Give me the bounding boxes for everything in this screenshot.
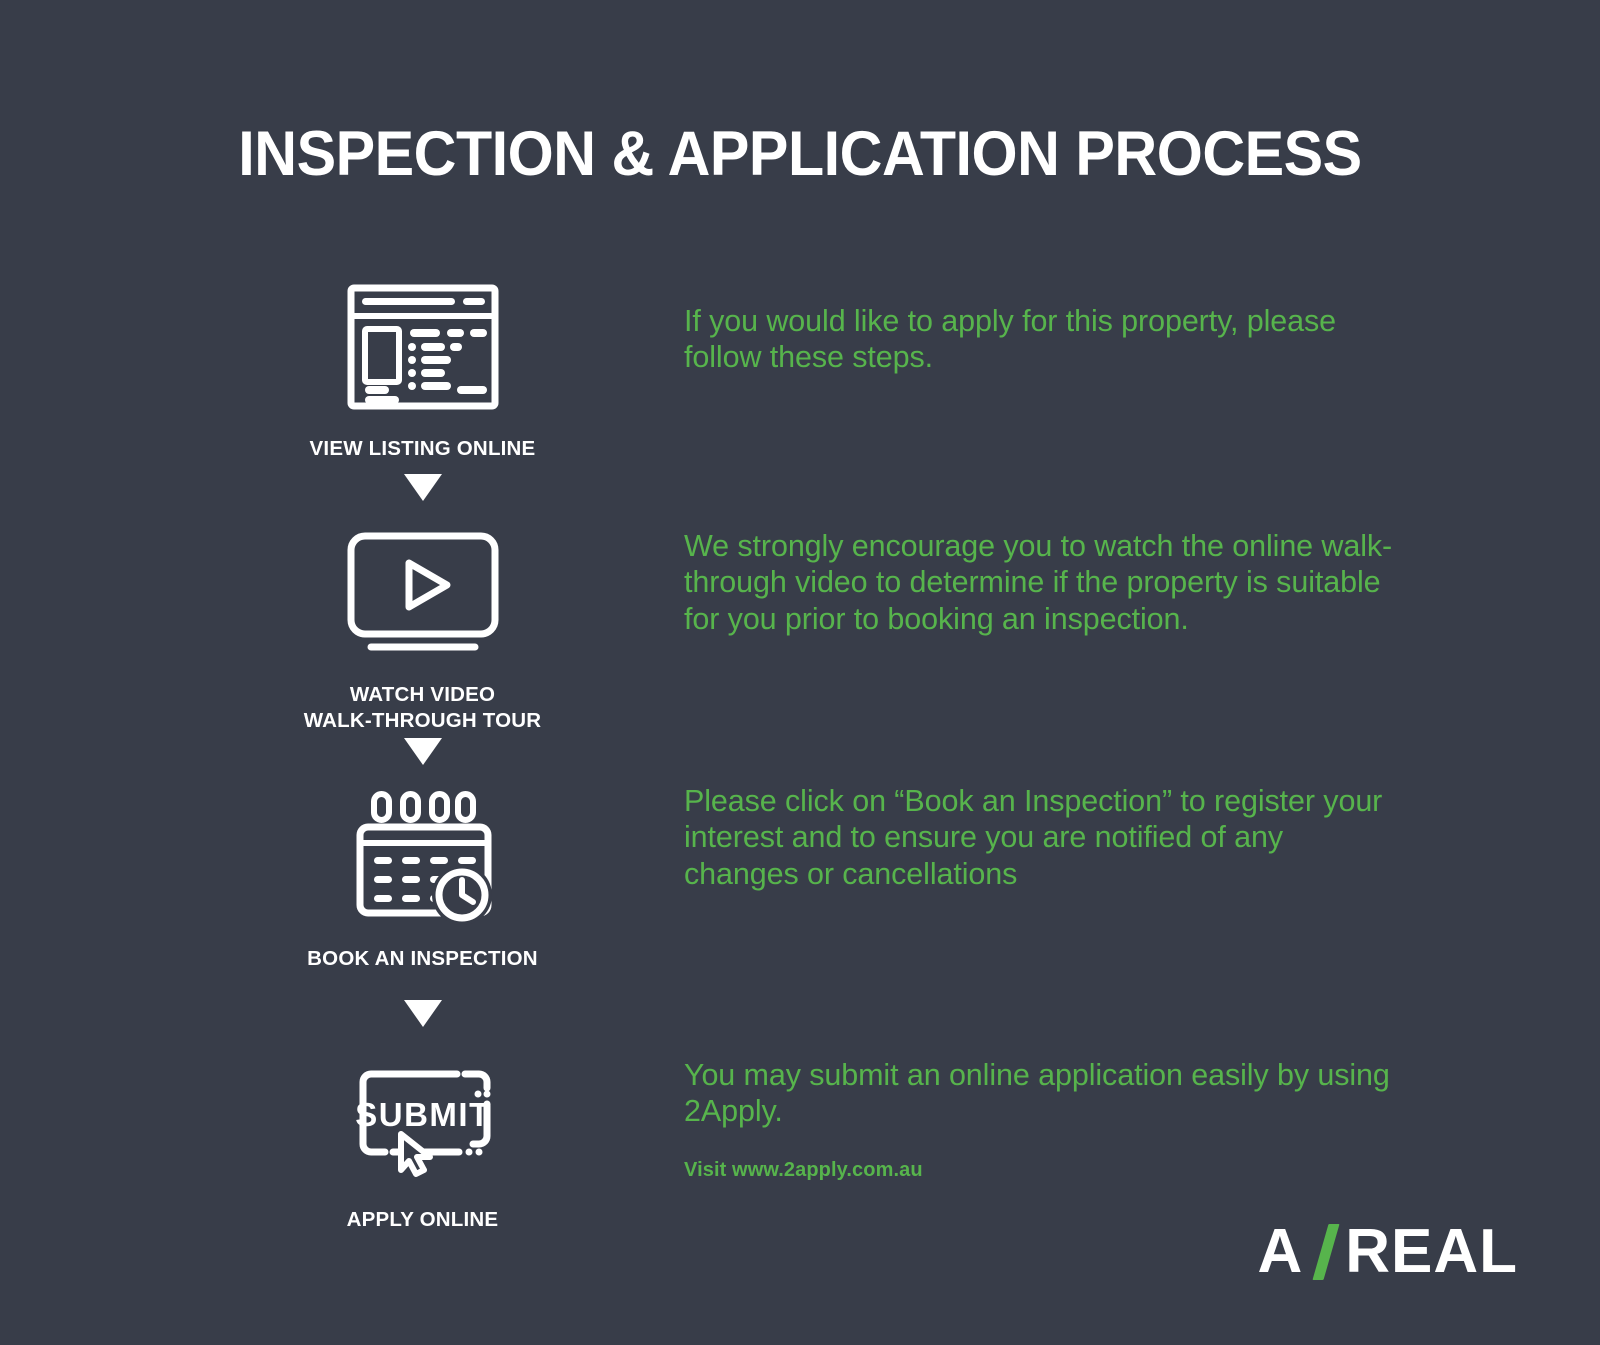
flow-arrow-2 — [250, 738, 595, 765]
submit-button-cursor-icon: SUBMIT — [250, 1043, 595, 1193]
logo-word-real: REAL — [1345, 1221, 1518, 1283]
infographic-poster: INSPECTION & APPLICATION PROCESS — [0, 0, 1600, 1345]
video-monitor-play-icon — [250, 518, 595, 668]
step-label-watch-video: WATCH VIDEO WALK-THROUGH TOUR — [250, 682, 595, 734]
step-label-book-inspection: BOOK AN INSPECTION — [250, 946, 595, 972]
copy-book-inspection: Please click on “Book an Inspection” to … — [684, 783, 1396, 892]
submit-icon-label: SUBMIT — [355, 1096, 491, 1133]
page-title: INSPECTION & APPLICATION PROCESS — [48, 118, 1552, 190]
flow-arrow-1 — [250, 474, 595, 501]
copy-watch-video: We strongly encourage you to watch the o… — [684, 528, 1396, 637]
brand-logo: A REAL — [1257, 1221, 1518, 1283]
step-apply-online: SUBMIT APPLY ONLINE — [250, 1043, 595, 1233]
copy-apply-online: You may submit an online application eas… — [684, 1057, 1396, 1130]
logo-letter-a: A — [1257, 1221, 1303, 1283]
browser-listing-icon — [250, 272, 595, 422]
step-label-apply-online: APPLY ONLINE — [250, 1207, 595, 1233]
step-book-inspection: BOOK AN INSPECTION — [250, 782, 595, 972]
logo-slash-icon — [1309, 1224, 1343, 1280]
step-view-listing-online: VIEW LISTING ONLINE — [250, 272, 595, 462]
step-watch-video: WATCH VIDEO WALK-THROUGH TOUR — [250, 518, 595, 734]
flow-arrow-3 — [250, 1000, 595, 1027]
copy-view-listing: If you would like to apply for this prop… — [684, 303, 1396, 376]
calendar-clock-icon — [250, 782, 595, 932]
step-label-view-listing: VIEW LISTING ONLINE — [250, 436, 595, 462]
visit-link-text[interactable]: Visit www.2apply.com.au — [684, 1159, 1396, 1182]
